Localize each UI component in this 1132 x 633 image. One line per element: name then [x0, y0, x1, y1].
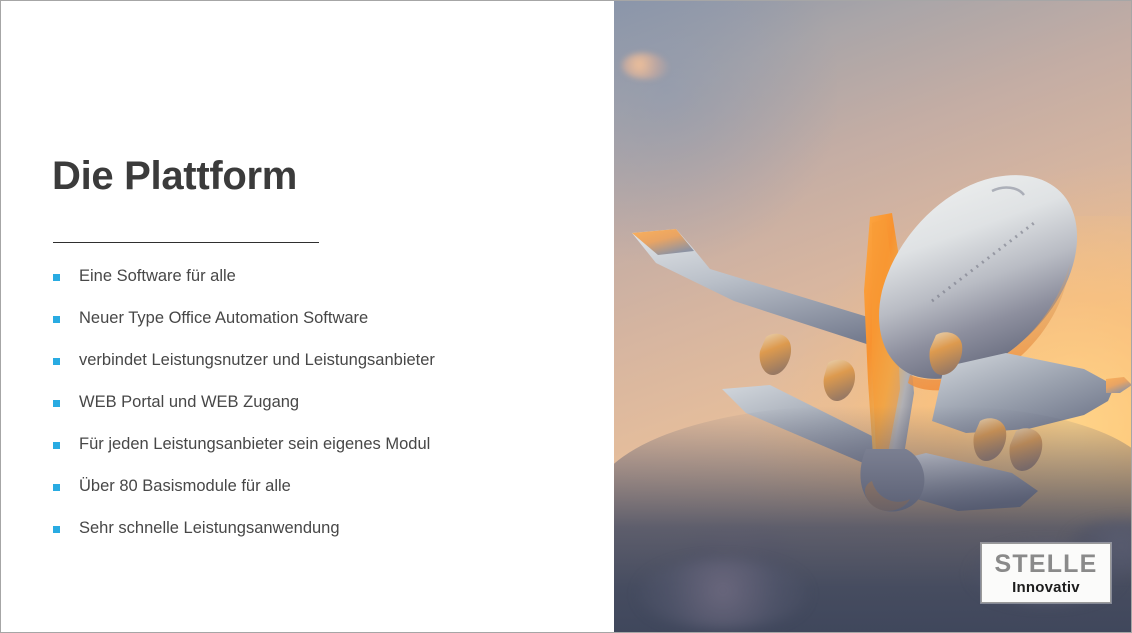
slide: Die Plattform Eine Software für alle Neu… [0, 0, 1132, 633]
list-item: WEB Portal und WEB Zugang [1, 382, 581, 424]
logo-wordmark: STELLE [994, 552, 1097, 577]
list-item-label: Sehr schnelle Leistungsanwendung [79, 519, 340, 539]
list-item: Über 80 Basismodule für alle [1, 466, 581, 508]
list-item: verbindet Leistungsnutzer und Leistungsa… [1, 340, 581, 382]
logo-tagline: Innovativ [1012, 580, 1080, 595]
square-bullet-icon [53, 400, 60, 407]
square-bullet-icon [53, 358, 60, 365]
square-bullet-icon [53, 442, 60, 449]
square-bullet-icon [53, 526, 60, 533]
page-title: Die Plattform [52, 154, 297, 199]
cloud-puff-dark-left [638, 559, 808, 629]
title-divider [53, 242, 319, 243]
list-item-label: verbindet Leistungsnutzer und Leistungsa… [79, 351, 435, 371]
bullet-list: Eine Software für alle Neuer Type Office… [1, 256, 581, 550]
text-panel: Die Plattform Eine Software für alle Neu… [1, 1, 614, 633]
list-item-label: Eine Software für alle [79, 267, 236, 287]
list-item: Für jeden Leistungsanbieter sein eigenes… [1, 424, 581, 466]
left-engine [760, 334, 791, 375]
list-item-label: WEB Portal und WEB Zugang [79, 393, 299, 413]
list-item: Neuer Type Office Automation Software [1, 298, 581, 340]
list-item: Eine Software für alle [1, 256, 581, 298]
list-item: Sehr schnelle Leistungsanwendung [1, 508, 581, 550]
list-item-label: Über 80 Basismodule für alle [79, 477, 291, 497]
square-bullet-icon [53, 316, 60, 323]
right-winglet [1106, 377, 1132, 393]
stelle-logo: STELLE Innovativ [981, 543, 1111, 603]
square-bullet-icon [53, 484, 60, 491]
left-engine-inner [824, 360, 855, 401]
list-item-label: Für jeden Leistungsanbieter sein eigenes… [79, 435, 430, 455]
square-bullet-icon [53, 274, 60, 281]
list-item-label: Neuer Type Office Automation Software [79, 309, 368, 329]
fuselage [879, 175, 1077, 379]
airplane-photo: STELLE Innovativ [614, 1, 1132, 633]
